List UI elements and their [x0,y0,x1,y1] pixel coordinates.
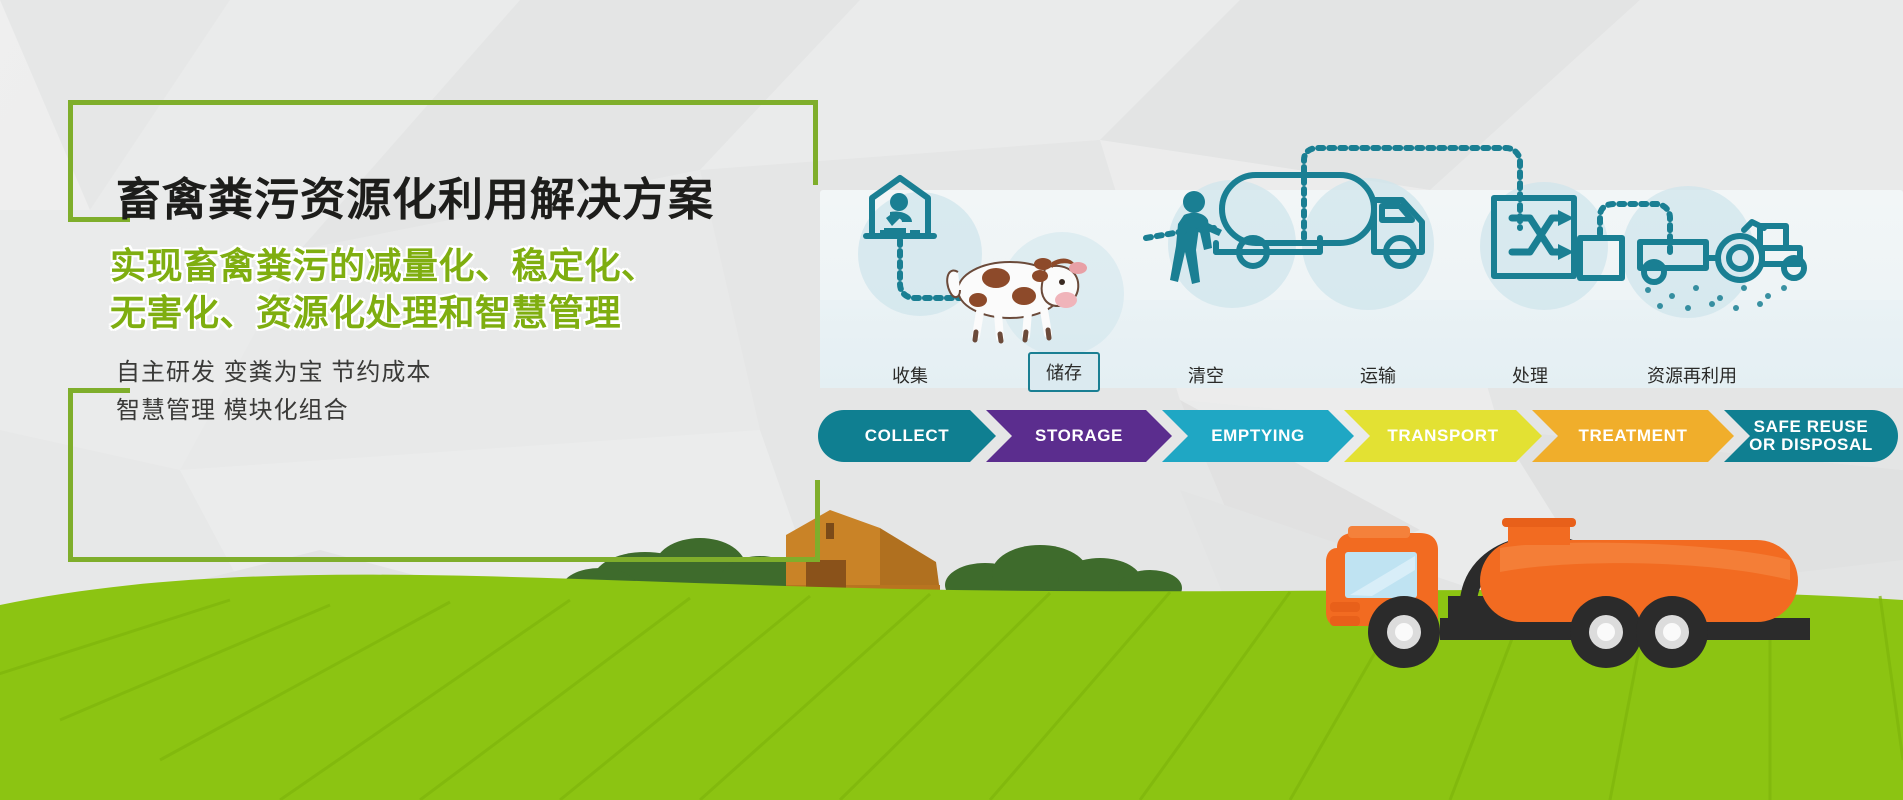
feature-keywords: 自主研发 变粪为宝 节约成本 智慧管理 模块化组合 [116,354,431,430]
chevron-emptying-label: EMPTYING [1205,427,1311,445]
step-blob-reuse [1622,186,1754,318]
chevron-storage[interactable]: STORAGE [986,410,1172,462]
chevron-treatment[interactable]: TREATMENT [1532,410,1734,462]
chevron-collect[interactable]: COLLECT [818,410,996,462]
step-label-reuse[interactable]: 资源再利用 [1632,362,1752,388]
feature-line-1: 自主研发 变粪为宝 节约成本 [116,354,431,392]
process-chevron-bar: COLLECT STORAGE EMPTYING TRANSPORT TREAT [818,410,1898,462]
chevron-safe-reuse-line-1: SAFE REUSE [1748,417,1875,436]
step-label-transport[interactable]: 运输 [1348,362,1408,388]
step-label-storage[interactable]: 储存 [1028,352,1100,392]
step-label-treatment[interactable]: 处理 [1500,362,1560,388]
chevron-transport-label: TRANSPORT [1381,427,1504,445]
subtitle-line-2: 无害化、资源化处理和智慧管理 [110,290,658,337]
farm-landscape [0,430,1903,800]
step-blob-treatment [1480,182,1608,310]
bracket-bottom-line [68,557,820,562]
chevron-emptying[interactable]: EMPTYING [1162,410,1354,462]
step-label-collect[interactable]: 收集 [880,362,940,388]
chevron-safe-reuse-label: SAFE REUSE OR DISPOSAL [1737,418,1885,454]
page-title: 畜禽粪污资源化利用解决方案 [116,175,714,225]
step-blob-collect [858,192,982,316]
step-blob-storage [1000,232,1124,356]
banner-stage: 畜禽粪污资源化利用解决方案 实现畜禽粪污的减量化、稳定化、 无害化、资源化处理和… [0,0,1903,800]
chevron-safe-reuse-line-2: OR DISPOSAL [1743,435,1879,454]
bracket-top-line [68,100,818,105]
bracket-top-left-stub [68,100,73,222]
bracket-bottom-left-line [68,388,73,562]
feature-line-2: 智慧管理 模块化组合 [116,392,431,430]
chevron-transport[interactable]: TRANSPORT [1344,410,1542,462]
bracket-top-right-stub [813,100,818,185]
chevron-treatment-label: TREATMENT [1573,427,1694,445]
chevron-storage-label: STORAGE [1029,427,1129,445]
bracket-bottom-right-stub [815,480,820,562]
chevron-safe-reuse[interactable]: SAFE REUSE OR DISPOSAL [1724,410,1898,462]
subtitle-block: 实现畜禽粪污的减量化、稳定化、 无害化、资源化处理和智慧管理 [110,243,658,337]
step-blob-emptying [1168,180,1296,308]
chevron-collect-label: COLLECT [859,427,955,445]
step-blob-transport [1302,178,1434,310]
step-label-emptying[interactable]: 清空 [1176,362,1236,388]
subtitle-line-1: 实现畜禽粪污的减量化、稳定化、 [110,243,658,290]
